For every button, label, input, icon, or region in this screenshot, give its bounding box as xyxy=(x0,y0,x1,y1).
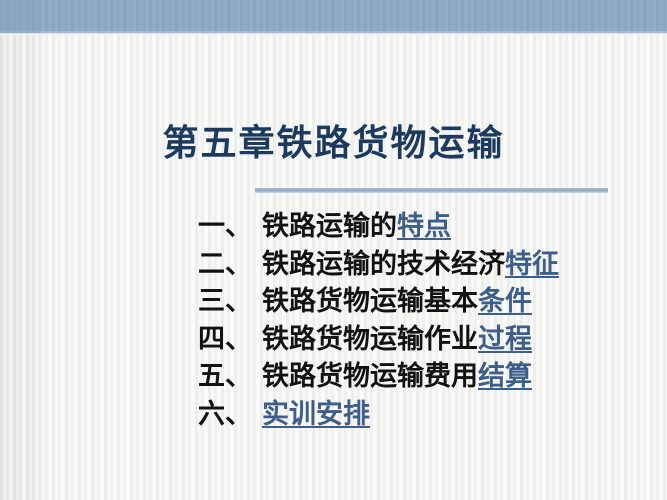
list-item: 六、实训安排 xyxy=(198,396,658,434)
list-item: 一、铁路运输的特点 xyxy=(198,208,658,246)
left-stripe-band xyxy=(0,0,40,500)
title-underline-rule xyxy=(255,188,608,193)
list-item-number: 四、 xyxy=(198,321,252,359)
list-item-number: 六、 xyxy=(198,396,252,434)
list-item-number: 一、 xyxy=(198,208,252,246)
table-of-contents: 一、铁路运输的特点 二、铁路运输的技术经济特征 三、铁路货物运输基本条件 四、铁… xyxy=(198,208,658,433)
list-item: 四、铁路货物运输作业过程 xyxy=(198,321,658,359)
list-item-text: 铁路货物运输基本 xyxy=(262,286,478,317)
list-item-link[interactable]: 实训安排 xyxy=(262,399,370,430)
list-item-number: 二、 xyxy=(198,246,252,284)
list-item-link[interactable]: 条件 xyxy=(478,286,532,317)
list-item: 三、铁路货物运输基本条件 xyxy=(198,283,658,321)
header-band-left-accent xyxy=(0,0,40,33)
list-item-text: 铁路运输的 xyxy=(262,211,397,242)
header-band-bottom-edge xyxy=(0,33,667,35)
list-item-link[interactable]: 结算 xyxy=(478,361,532,392)
list-item-number: 五、 xyxy=(198,358,252,396)
list-item-text: 铁路货物运输作业 xyxy=(262,324,478,355)
list-item-link[interactable]: 过程 xyxy=(478,324,532,355)
list-item-number: 三、 xyxy=(198,283,252,321)
list-item: 五、铁路货物运输费用结算 xyxy=(198,358,658,396)
page-title: 第五章铁路货物运输 xyxy=(0,125,667,163)
list-item-text: 铁路运输的技术经济 xyxy=(262,249,505,280)
list-item-text: 铁路货物运输费用 xyxy=(262,361,478,392)
list-item-link[interactable]: 特点 xyxy=(397,211,451,242)
slide-canvas: 第五章铁路货物运输 一、铁路运输的特点 二、铁路运输的技术经济特征 三、铁路货物… xyxy=(0,0,667,500)
top-header-band xyxy=(0,0,667,33)
list-item: 二、铁路运输的技术经济特征 xyxy=(198,246,658,284)
list-item-link[interactable]: 特征 xyxy=(505,249,559,280)
